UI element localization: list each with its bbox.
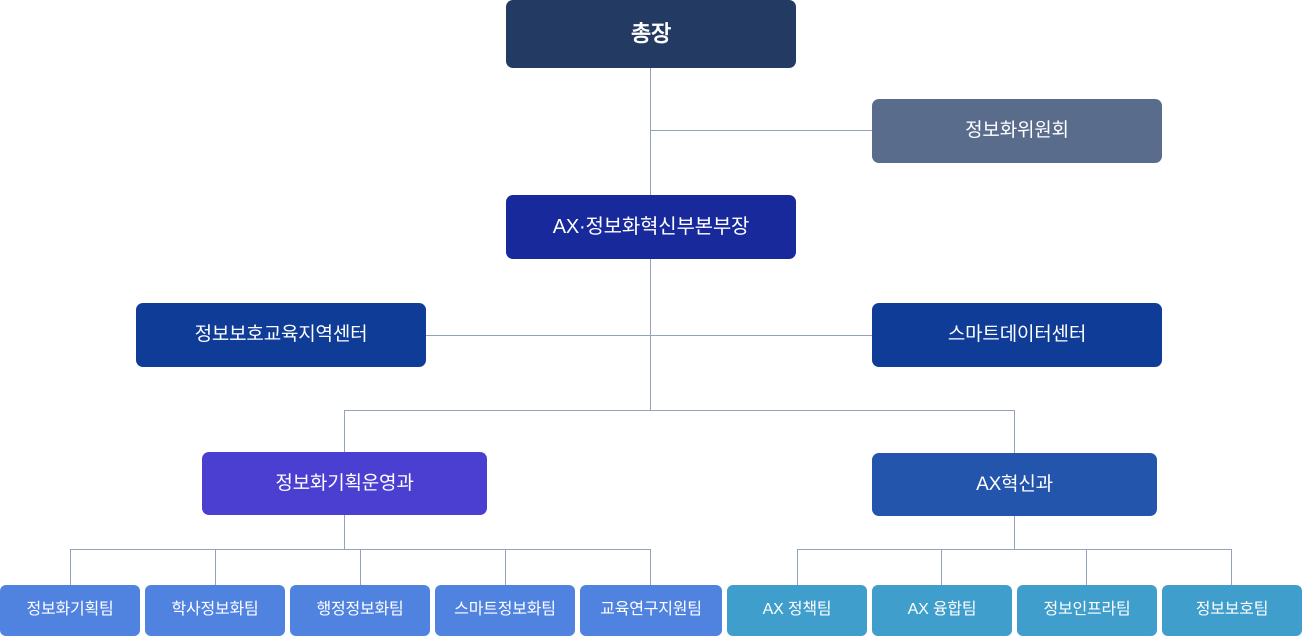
node-team-planning-3[interactable]: 행정정보화팀 bbox=[290, 585, 430, 636]
connector-departments-bus bbox=[344, 410, 1015, 411]
node-team-planning-2[interactable]: 학사정보화팀 bbox=[145, 585, 285, 636]
node-team-ax-2[interactable]: AX 융합팀 bbox=[872, 585, 1012, 636]
connector-teams-ax-bus bbox=[797, 549, 1231, 550]
node-center-left[interactable]: 정보보호교육지역센터 bbox=[136, 303, 426, 367]
connector-team-drop-5 bbox=[650, 549, 651, 585]
node-president[interactable]: 총장 bbox=[506, 0, 796, 68]
node-chief[interactable]: AX·정보화혁신부본부장 bbox=[506, 195, 796, 259]
connector-dept-right-drop bbox=[1014, 410, 1015, 453]
connector-ax-team-drop-4 bbox=[1231, 549, 1232, 585]
connector-ax-team-drop-1 bbox=[797, 549, 798, 585]
node-team-ax-4[interactable]: 정보보호팀 bbox=[1162, 585, 1302, 636]
node-team-ax-3[interactable]: 정보인프라팀 bbox=[1017, 585, 1157, 636]
node-team-ax-1[interactable]: AX 정책팀 bbox=[727, 585, 867, 636]
connector-dept-left-to-teams bbox=[344, 515, 345, 550]
connector-ax-team-drop-3 bbox=[1086, 549, 1087, 585]
connector-ax-team-drop-2 bbox=[941, 549, 942, 585]
connector-team-drop-3 bbox=[360, 549, 361, 585]
node-team-planning-5[interactable]: 교육연구지원팀 bbox=[580, 585, 722, 636]
org-chart: 총장 정보화위원회 AX·정보화혁신부본부장 정보보호교육지역센터 스마트데이터… bbox=[0, 0, 1302, 636]
connector-dept-left-drop bbox=[344, 410, 345, 452]
node-team-planning-1[interactable]: 정보화기획팀 bbox=[0, 585, 140, 636]
connector-team-drop-4 bbox=[505, 549, 506, 585]
node-committee[interactable]: 정보화위원회 bbox=[872, 99, 1162, 163]
connector-dept-right-to-teams bbox=[1014, 516, 1015, 550]
connector-to-committee bbox=[650, 130, 872, 131]
node-dept-planning[interactable]: 정보화기획운영과 bbox=[202, 452, 487, 515]
node-team-planning-4[interactable]: 스마트정보화팀 bbox=[435, 585, 575, 636]
connector-president-to-chief bbox=[650, 68, 651, 195]
node-dept-ax[interactable]: AX혁신과 bbox=[872, 453, 1157, 516]
connector-team-drop-2 bbox=[215, 549, 216, 585]
node-center-right[interactable]: 스마트데이터센터 bbox=[872, 303, 1162, 367]
connector-centers-bus bbox=[426, 335, 872, 336]
connector-team-drop-1 bbox=[70, 549, 71, 585]
